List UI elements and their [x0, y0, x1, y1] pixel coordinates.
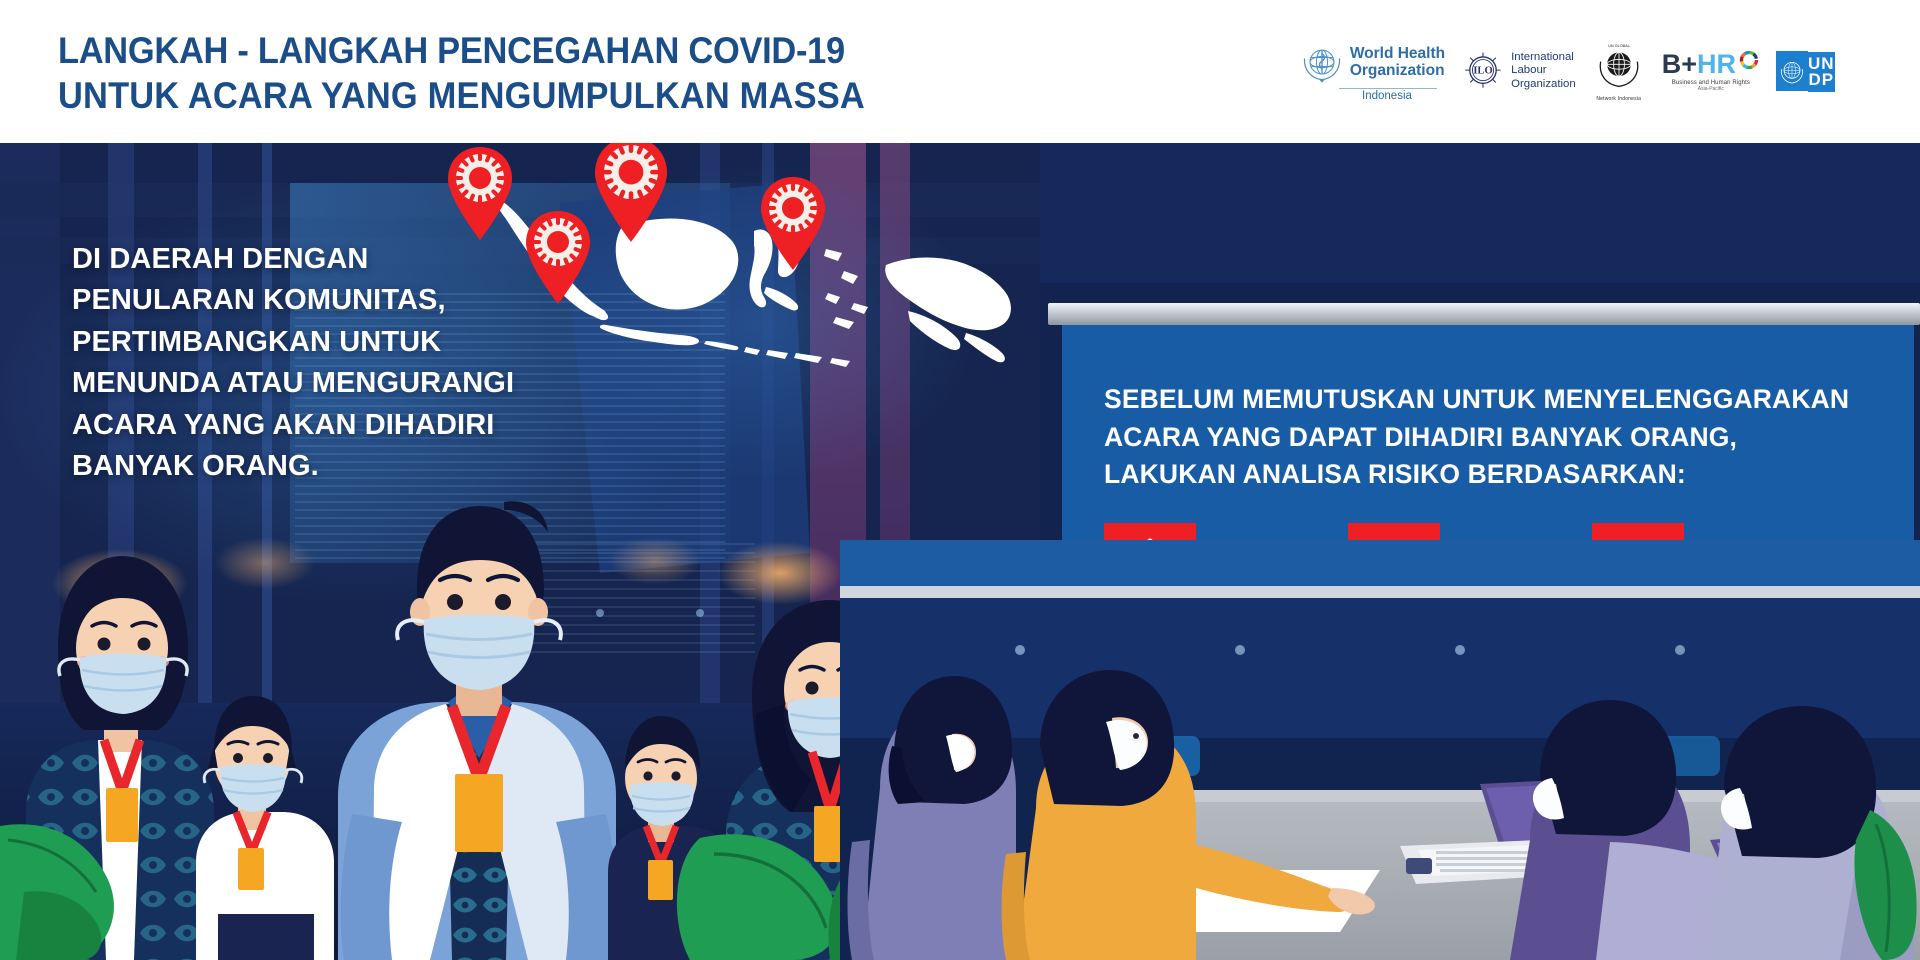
- meeting-room-illustration: [840, 540, 1920, 960]
- undp-wordmark: UN DP: [1808, 50, 1835, 92]
- ilo-line-1: International: [1511, 51, 1576, 64]
- svg-text:ILO: ILO: [1473, 66, 1492, 77]
- left-headline-line-3: PERTIMBANGKAN UNTUK: [72, 322, 542, 363]
- pin-papua: [756, 175, 830, 271]
- person-boy-white-shirt: [196, 696, 334, 960]
- ilo-logo: ILO International Labour Organization: [1461, 49, 1576, 93]
- pin-sumatra: [443, 145, 517, 241]
- left-headline-line-2: PENULARAN KOMUNITAS,: [72, 280, 542, 321]
- ilo-line-2: Labour: [1511, 64, 1576, 77]
- bhr-mark-b: B+: [1662, 51, 1697, 78]
- who-line-2: Organization: [1350, 63, 1445, 80]
- board-heading: SEBELUM MEMUTUSKAN UNTUK MENYELENGGARAKA…: [1104, 381, 1874, 494]
- infographic-poster: LANGKAH - LANGKAH PENCEGAHAN COVID-19 UN…: [0, 0, 1920, 960]
- left-headline-line-1: DI DAERAH DENGAN: [72, 239, 542, 280]
- masked-people-illustration: [0, 440, 900, 960]
- person-man-lab-coat: [338, 501, 617, 960]
- title-line-2: UNTUK ACARA YANG MENGUMPULKAN MASSA: [58, 73, 988, 118]
- board-heading-line-3: LAKUKAN ANALISA RISIKO BERDASARKAN:: [1104, 456, 1874, 494]
- left-headline-line-4: MENUNDA ATAU MENGURANGI: [72, 363, 542, 404]
- indonesia-map: [488, 183, 1028, 433]
- who-logo: World Health Organization Indonesia: [1299, 40, 1445, 102]
- undp-letter-dp: DP: [1808, 72, 1834, 88]
- un-global-compact-logo: UN GLOBAL Network Indonesia: [1592, 40, 1646, 102]
- header-bar: LANGKAH - LANGKAH PENCEGAHAN COVID-19 UN…: [0, 0, 1920, 143]
- who-country-label: Indonesia: [1362, 90, 1412, 102]
- pin-kalimantan: [589, 143, 673, 243]
- ilo-emblem-icon: ILO: [1461, 49, 1505, 93]
- who-divider: [1339, 88, 1437, 89]
- title-line-1: LANGKAH - LANGKAH PENCEGAHAN COVID-19: [58, 28, 988, 73]
- ilo-line-3: Organization: [1511, 78, 1576, 91]
- who-line-1: World Health: [1350, 46, 1445, 63]
- globe-wreath-icon: UN GLOBAL: [1592, 40, 1646, 94]
- undp-emblem-icon: [1776, 51, 1808, 91]
- svg-text:UN GLOBAL: UN GLOBAL: [1608, 44, 1630, 48]
- ungc-caption: Network Indonesia: [1596, 96, 1641, 102]
- bhr-mark-hr: HR: [1697, 51, 1736, 78]
- board-heading-line-1: SEBELUM MEMUTUSKAN UNTUK MENYELENGGARAKA…: [1104, 381, 1874, 419]
- poster-body: DI DAERAH DENGAN PENULARAN KOMUNITAS, PE…: [0, 143, 1920, 960]
- sdg-wheel-icon: [1738, 49, 1760, 71]
- page-title: LANGKAH - LANGKAH PENCEGAHAN COVID-19 UN…: [58, 28, 988, 118]
- undp-logo: UN DP: [1776, 50, 1828, 92]
- logo-strip: World Health Organization Indonesia IL: [1299, 30, 1828, 112]
- bhr-subtitle-2: Asia-Pacific: [1698, 86, 1724, 92]
- business-and-human-rights-logo: B+ HR: [1662, 51, 1760, 92]
- presentation-board-rail: [1048, 303, 1920, 325]
- board-heading-line-2: ACARA YANG DAPAT DIHADIRI BANYAK ORANG,: [1104, 419, 1874, 457]
- who-emblem-icon: [1299, 40, 1345, 86]
